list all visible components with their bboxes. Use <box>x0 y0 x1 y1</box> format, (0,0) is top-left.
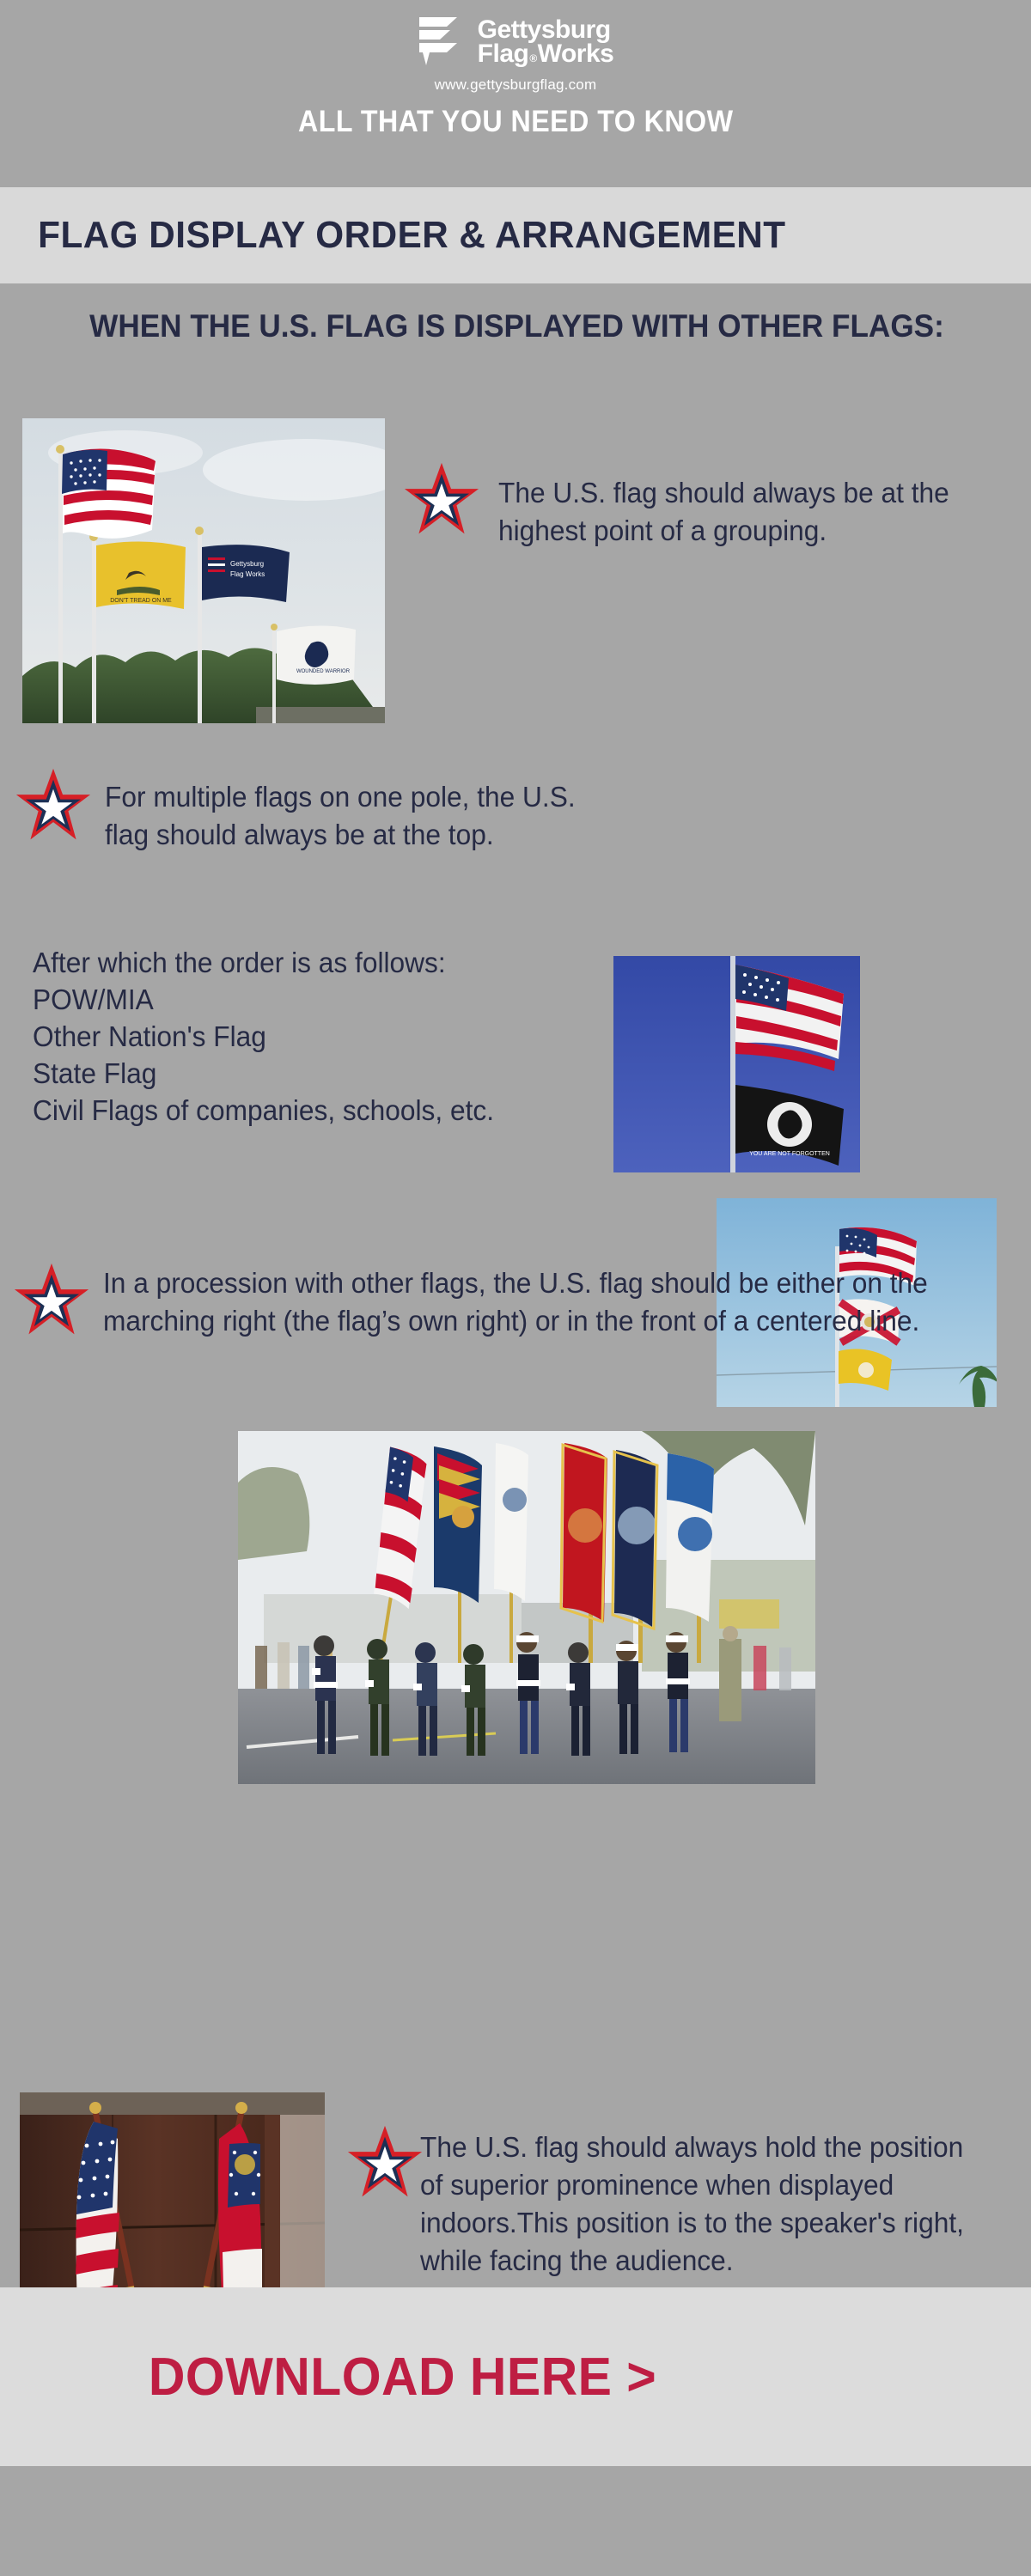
bullet-text-single-pole-top: For multiple flags on one pole, the U.S.… <box>105 778 583 854</box>
brand-word-flag: Flag <box>478 42 529 67</box>
order-item-civil-flags: Civil Flags of companies, schools, etc. <box>33 1092 775 1130</box>
bullet-text-highest-point: The U.S. flag should always be at the hi… <box>498 474 968 550</box>
bullet-text-indoors: The U.S. flag should always hold the pos… <box>420 2128 981 2280</box>
star-bullet-icon <box>402 461 481 537</box>
infographic-page: Gettysburg Flag®Works www.gettysburgflag… <box>0 0 1031 2576</box>
footer-band <box>0 2466 1031 2576</box>
brand-website[interactable]: www.gettysburgflag.com <box>435 76 597 94</box>
brand-logo: Gettysburg Flag®Works <box>418 15 614 69</box>
section-heading: WHEN THE U.S. FLAG IS DISPLAYED WITH OTH… <box>53 307 979 345</box>
brand-word-works: Works <box>538 42 614 67</box>
svg-text:DON'T TREAD ON ME: DON'T TREAD ON ME <box>110 598 172 604</box>
order-intro: After which the order is as follows: <box>33 944 660 982</box>
svg-text:WOUNDED WARRIOR: WOUNDED WARRIOR <box>296 669 351 674</box>
brand-header: Gettysburg Flag®Works www.gettysburgflag… <box>0 0 1031 187</box>
star-bullet-icon <box>345 2124 424 2200</box>
flagpole-grouping-photo: DON'T TREAD ON ME Gettysburg Flag Works … <box>22 418 385 723</box>
star-bullet-icon <box>12 1262 91 1337</box>
color-guard-procession-photo <box>238 1431 815 1784</box>
content-area: WHEN THE U.S. FLAG IS DISPLAYED WITH OTH… <box>0 283 1031 2262</box>
page-title: FLAG DISPLAY ORDER & ARRANGEMENT <box>0 214 786 257</box>
svg-text:Flag Works: Flag Works <box>230 570 265 578</box>
brand-line-gettysburg: Gettysburg <box>478 18 611 43</box>
order-item-other-nation: Other Nation's Flag <box>33 1018 660 1056</box>
download-cta-band[interactable]: DOWNLOAD HERE > <box>0 2287 1031 2466</box>
header-tagline: ALL THAT YOU NEED TO KNOW <box>298 105 733 139</box>
gettysburg-flag-mark-icon <box>418 15 467 69</box>
svg-text:YOU ARE NOT FORGOTTEN: YOU ARE NOT FORGOTTEN <box>749 1151 830 1157</box>
star-bullet-icon <box>14 767 93 843</box>
order-item-state-flag: State Flag <box>33 1055 660 1093</box>
svg-text:Gettysburg: Gettysburg <box>230 560 264 568</box>
brand-line-flagworks: Flag®Works <box>478 42 614 67</box>
registered-mark-icon: ® <box>529 54 536 64</box>
bullet-text-procession: In a procession with other flags, the U.… <box>103 1264 965 1340</box>
brand-wordmark: Gettysburg Flag®Works <box>478 18 614 67</box>
download-here-button[interactable]: DOWNLOAD HERE > <box>0 2347 656 2408</box>
title-bar: FLAG DISPLAY ORDER & ARRANGEMENT <box>0 187 1031 283</box>
order-item-pow-mia: POW/MIA <box>33 981 660 1019</box>
